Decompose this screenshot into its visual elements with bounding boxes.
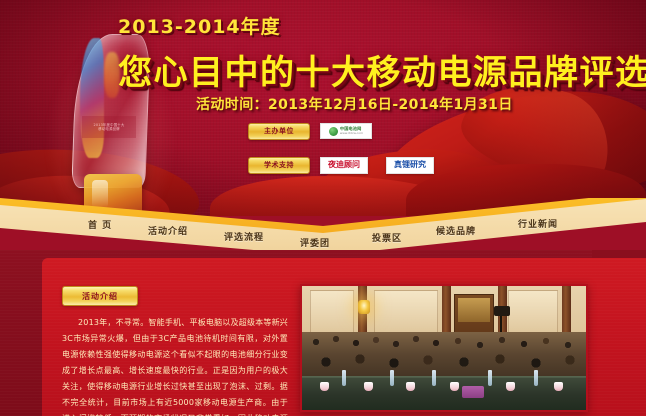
logo-name: 夜迪顾问 xyxy=(328,161,360,169)
nav-item-about[interactable]: 活动介绍 xyxy=(148,224,188,237)
photo-teacup xyxy=(554,382,563,391)
banner-year-line: 2013-2014年度 xyxy=(118,12,281,39)
trophy-inscription-line-2: 移动电源品牌 xyxy=(98,127,120,131)
logo-realli-research[interactable]: 真锂研究 xyxy=(386,157,434,174)
leaf-circle-icon xyxy=(329,127,338,136)
nav-item-news[interactable]: 行业新闻 xyxy=(518,217,558,230)
photo-teacup xyxy=(506,382,515,391)
trophy-inscription: 2013年度中国十大 移动电源品牌 xyxy=(82,116,136,138)
sponsor-section: 主办单位 中国电池网 www.itdcw.com 学术支持 夜迪顾问 真锂研究 xyxy=(248,120,488,188)
section-title-about[interactable]: 活动介绍 xyxy=(62,286,138,306)
about-article: 活动介绍 2013年，不寻常。智能手机、平板电脑以及超级本等新兴3C市场异常火爆… xyxy=(62,286,288,416)
photo-water-bottle xyxy=(534,370,538,386)
photo-wall-lamp xyxy=(358,300,370,314)
article-paragraph: 2013年，不寻常。智能手机、平板电脑以及超级本等新兴3C市场异常火爆，但由于3… xyxy=(62,315,288,416)
sponsor-row-academic: 学术支持 夜迪顾问 真锂研究 xyxy=(248,154,488,176)
hero-banner: 2013年度中国十大 移动电源品牌 2013-2014年度 您心目中的十大移动电… xyxy=(0,0,646,216)
photo-water-bottle xyxy=(432,370,436,386)
photo-purple-bag xyxy=(462,386,484,398)
photo-teacup xyxy=(450,382,459,391)
logo-china-battery-net[interactable]: 中国电池网 www.itdcw.com xyxy=(320,123,372,139)
academic-support-label-button[interactable]: 学术支持 xyxy=(248,157,310,174)
article-text: 2013年，不寻常。智能手机、平板电脑以及超级本等新兴3C市场异常火爆，但由于3… xyxy=(62,318,288,416)
nav-item-home[interactable]: 首 页 xyxy=(88,218,112,231)
logo-subtext: www.itdcw.com xyxy=(340,132,363,135)
nav-item-candidates[interactable]: 候选品牌 xyxy=(436,224,476,237)
nav-item-vote[interactable]: 投票区 xyxy=(372,231,402,244)
photo-water-bottle xyxy=(342,370,346,386)
nav-item-process[interactable]: 评选流程 xyxy=(224,230,264,243)
logo-yedi-consulting[interactable]: 夜迪顾问 xyxy=(320,157,368,174)
photo-doorway-light xyxy=(458,298,490,322)
trophy-prism-flare-a xyxy=(80,38,104,158)
banner-subtitle-date: 活动时间：2013年12月16日-2014年1月31日 xyxy=(196,94,513,114)
sponsor-row-organizer: 主办单位 中国电池网 www.itdcw.com xyxy=(248,120,488,142)
conference-photo[interactable] xyxy=(300,284,588,412)
photo-water-bottle xyxy=(390,370,394,386)
photo-teacup xyxy=(364,382,373,391)
photo-teacup xyxy=(406,382,415,391)
logo-text-block: 中国电池网 www.itdcw.com xyxy=(340,127,363,134)
banner-main-title: 您心目中的十大移动电源品牌评选 xyxy=(118,45,646,94)
photo-video-camera xyxy=(494,306,510,316)
nav-item-judges[interactable]: 评委团 xyxy=(300,236,330,249)
logo-name: 真锂研究 xyxy=(394,161,426,169)
photo-teacup xyxy=(320,382,329,391)
organizer-label-button[interactable]: 主办单位 xyxy=(248,123,310,140)
page-root: 2013年度中国十大 移动电源品牌 2013-2014年度 您心目中的十大移动电… xyxy=(0,0,646,416)
photo-water-bottle xyxy=(488,370,492,386)
